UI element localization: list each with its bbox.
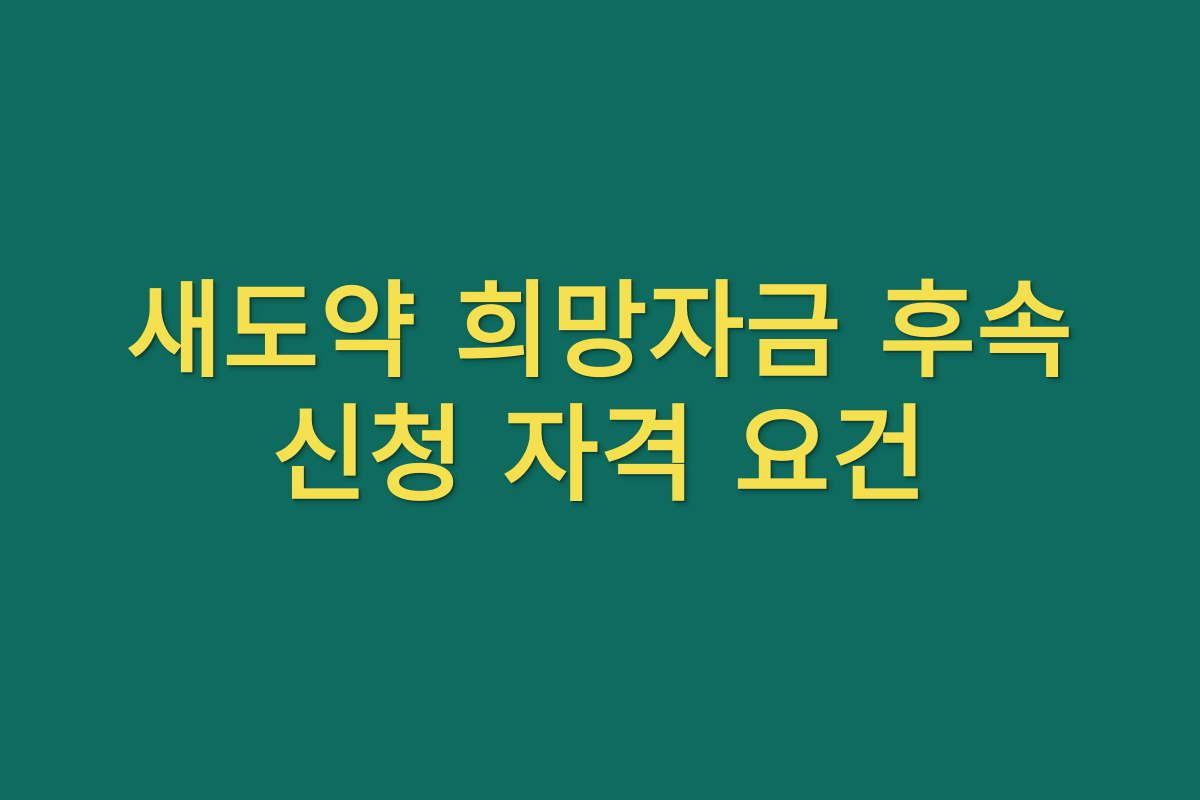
headline: 새도약 희망자금 후속 신청 자격 요건 (86, 276, 1113, 510)
headline-line-2: 신청 자격 요건 (272, 400, 928, 510)
headline-line-1: 새도약 희망자금 후속 (126, 276, 1073, 386)
title-card: 새도약 희망자금 후속 신청 자격 요건 (0, 0, 1200, 800)
